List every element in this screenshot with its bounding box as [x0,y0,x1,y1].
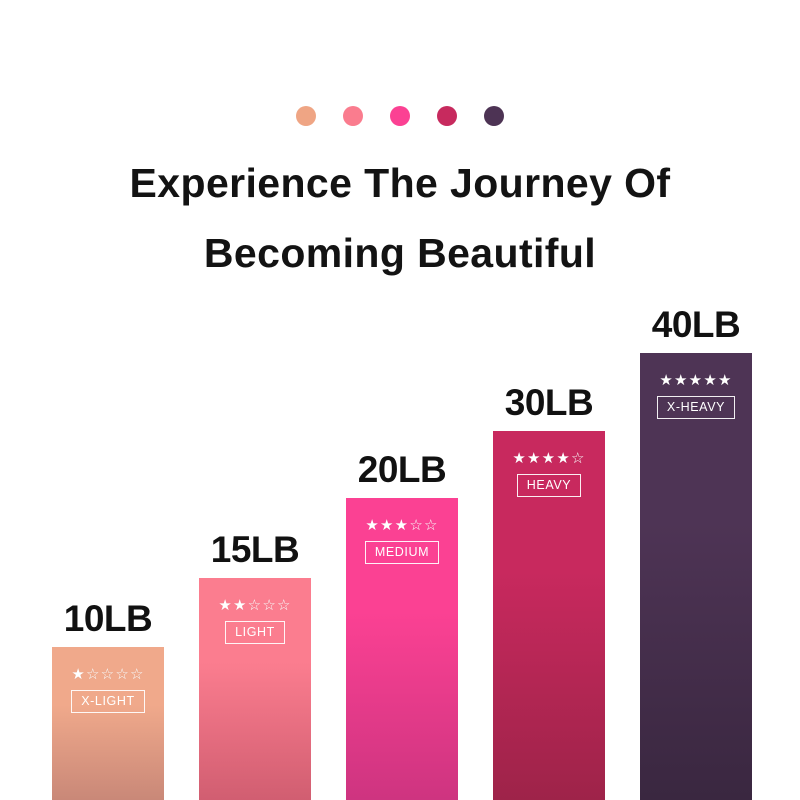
resistance-level-badge: LIGHT [225,621,285,644]
product-infographic: Experience The Journey Of Becoming Beaut… [0,0,800,800]
star-rating-icon: ★★★★★ [659,373,732,389]
bar-group[interactable]: 10LB★☆☆☆☆X-LIGHT [52,599,164,800]
bar-rating-block: ★★★★☆HEAVY [493,451,605,497]
bar-weight-label: 10LB [52,599,164,639]
resistance-level-badge: X-HEAVY [657,396,735,419]
star-rating-icon: ★★★★☆ [512,451,585,467]
bar-group[interactable]: 40LB★★★★★X-HEAVY [640,305,752,800]
star-rating-icon: ★★★☆☆ [365,518,438,534]
bar-weight-label: 40LB [640,305,752,345]
bar-column[interactable]: ★★★☆☆MEDIUM [346,498,458,800]
resistance-level-badge: HEAVY [517,474,581,497]
bar-rating-block: ★★★☆☆MEDIUM [346,518,458,564]
bar-column[interactable]: ★★☆☆☆LIGHT [199,578,311,800]
resistance-band-bar-chart: 10LB★☆☆☆☆X-LIGHT15LB★★☆☆☆LIGHT20LB★★★☆☆M… [0,0,800,800]
star-rating-icon: ★★☆☆☆ [218,598,291,614]
bar-group[interactable]: 15LB★★☆☆☆LIGHT [199,530,311,800]
resistance-level-badge: MEDIUM [365,541,439,564]
star-rating-icon: ★☆☆☆☆ [71,667,144,683]
bar-rating-block: ★☆☆☆☆X-LIGHT [52,667,164,713]
bar-rating-block: ★★☆☆☆LIGHT [199,598,311,644]
bar-column[interactable]: ★☆☆☆☆X-LIGHT [52,647,164,800]
bar-column[interactable]: ★★★★☆HEAVY [493,431,605,800]
bar-weight-label: 20LB [346,450,458,490]
bar-weight-label: 30LB [493,383,605,423]
bar-rating-block: ★★★★★X-HEAVY [640,373,752,419]
bar-fill [640,353,752,800]
bar-group[interactable]: 30LB★★★★☆HEAVY [493,383,605,800]
bar-weight-label: 15LB [199,530,311,570]
bar-column[interactable]: ★★★★★X-HEAVY [640,353,752,800]
resistance-level-badge: X-LIGHT [71,690,145,713]
bar-group[interactable]: 20LB★★★☆☆MEDIUM [346,450,458,800]
